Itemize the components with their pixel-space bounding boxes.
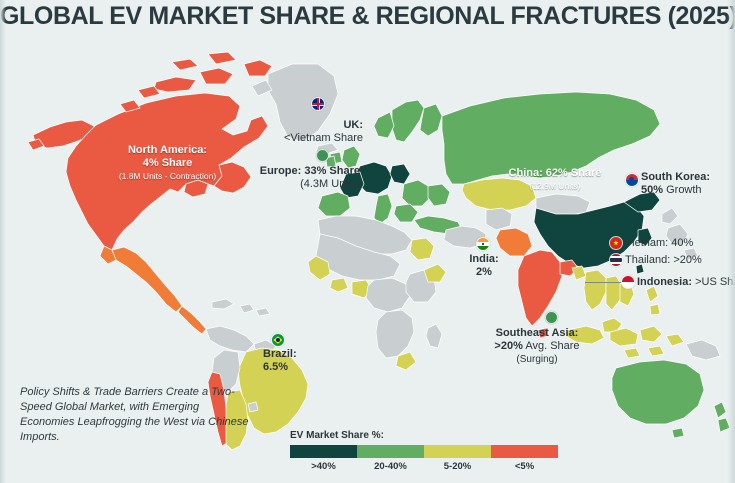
- uk-name: UK:: [255, 119, 363, 132]
- south-korea-suffix: Growth: [666, 184, 701, 196]
- legend-color-bars: [290, 445, 558, 458]
- vietnam-flag-icon: [610, 237, 622, 249]
- south-korea-value: 50%: [641, 184, 663, 196]
- south-korea-name: South Korea:: [641, 171, 733, 184]
- north-america-value: 4% Share: [100, 157, 235, 170]
- legend-swatch-3: [491, 445, 558, 458]
- infographic-poster: GLOBAL EV MARKET SHARE & REGIONAL FRACTU…: [0, 0, 735, 483]
- annotation-china: China: 62% Share (12.9M Units): [490, 167, 620, 193]
- north-america-name: North America:: [100, 144, 235, 157]
- caption-text: Policy Shifts & Trade Barriers Create a …: [20, 385, 255, 445]
- annotation-south-korea: South Korea: 50% Growth: [641, 171, 733, 197]
- southeast-asia-green-dot-icon: [545, 311, 558, 324]
- annotation-brazil: Brazil: 6.5%: [263, 348, 317, 374]
- southeast-asia-detail: (Surging): [478, 353, 596, 366]
- legend-label-2: 5-20%: [424, 461, 491, 472]
- annotation-thailand: Thailand: >20%: [625, 254, 702, 266]
- china-name: China: 62% Share: [490, 167, 620, 180]
- india-flag-icon: [477, 238, 489, 250]
- annotation-vietnam: Vietnam: 40%: [625, 237, 693, 249]
- thailand-flag-icon: [610, 254, 622, 266]
- indonesia-leader-line: [585, 282, 623, 283]
- uk-flag-icon: [312, 98, 324, 110]
- indonesia-value: >US Share: [695, 276, 735, 288]
- thailand-name: Thailand:: [625, 254, 670, 266]
- india-value: 2%: [466, 266, 502, 279]
- southeast-asia-value: >20%: [494, 340, 522, 352]
- brazil-name: Brazil:: [263, 348, 317, 361]
- page-title: GLOBAL EV MARKET SHARE & REGIONAL FRACTU…: [0, 2, 735, 31]
- legend-title: EV Market Share %:: [290, 430, 558, 441]
- europe-green-dot-icon: [316, 149, 329, 162]
- annotation-southeast-asia: Southeast Asia: >20% Avg. Share (Surging…: [478, 327, 596, 366]
- vietnam-name: Vietnam:: [625, 237, 668, 249]
- legend-swatch-1: [357, 445, 424, 458]
- annotation-north-america: North America: 4% Share (1.8M Units - Co…: [100, 144, 235, 183]
- southeast-asia-suffix: Avg. Share: [525, 340, 579, 352]
- legend-swatch-2: [424, 445, 491, 458]
- india-name: India:: [466, 253, 502, 266]
- brazil-flag-icon: [272, 334, 284, 346]
- annotation-uk: UK: <Vietnam Share: [255, 119, 363, 145]
- south-korea-flag-icon: [626, 174, 638, 186]
- europe-name: Europe: 33% Share: [236, 165, 360, 178]
- north-america-detail: (1.8M Units - Contraction): [100, 170, 235, 183]
- legend-label-3: <5%: [491, 461, 558, 472]
- annotation-india: India: 2%: [466, 253, 502, 279]
- vietnam-value: 40%: [671, 237, 693, 249]
- southeast-asia-name: Southeast Asia:: [478, 327, 596, 340]
- annotation-europe: Europe: 33% Share (4.3M Units): [236, 165, 360, 191]
- china-detail: (12.9M Units): [490, 180, 620, 193]
- legend-label-1: 20-40%: [357, 461, 424, 472]
- indonesia-name: Indonesia:: [637, 276, 692, 288]
- legend-labels: >40% 20-40% 5-20% <5%: [290, 461, 558, 472]
- europe-detail: (4.3M Units): [236, 178, 360, 191]
- legend-label-0: >40%: [290, 461, 357, 472]
- uk-value: <Vietnam Share: [255, 132, 363, 145]
- annotation-indonesia: Indonesia: >US Share: [637, 276, 735, 288]
- brazil-value: 6.5%: [263, 361, 317, 374]
- indonesia-flag-icon: [622, 276, 634, 288]
- thailand-value: >20%: [673, 254, 701, 266]
- legend: EV Market Share %: >40% 20-40% 5-20% <5%: [290, 430, 558, 472]
- legend-swatch-0: [290, 445, 357, 458]
